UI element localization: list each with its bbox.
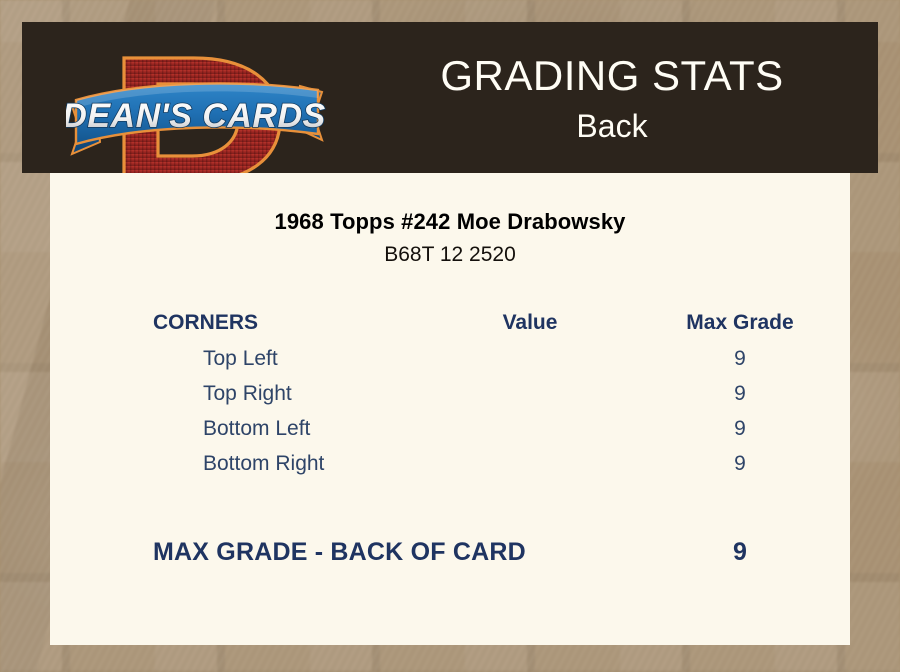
grading-stats-table: CORNERS Value Max Grade Top Left 9 Top R… (50, 305, 850, 481)
card-subtitle: B68T 12 2520 (50, 243, 850, 267)
summary-label: MAX GRADE - BACK OF CARD (50, 538, 630, 567)
content-panel: 1968 Topps #242 Moe Drabowsky B68T 12 25… (50, 173, 850, 645)
row-value (430, 341, 630, 376)
header-titles: GRADING STATS Back (352, 48, 872, 148)
row-label: Top Right (50, 376, 430, 411)
row-max-grade: 9 (630, 411, 850, 446)
row-label: Bottom Left (50, 411, 430, 446)
row-max-grade: 9 (630, 446, 850, 481)
row-value (430, 446, 630, 481)
page-subtitle: Back (352, 104, 872, 148)
row-label: Top Left (50, 341, 430, 376)
row-label: Bottom Right (50, 446, 430, 481)
summary-row: MAX GRADE - BACK OF CARD 9 (50, 538, 850, 567)
deans-cards-logo[interactable]: DEAN'S CARDS (66, 50, 328, 190)
row-max-grade: 9 (630, 341, 850, 376)
header-bar: DEAN'S CARDS GRADING STATS Back (22, 22, 878, 173)
card-title: 1968 Topps #242 Moe Drabowsky (50, 209, 850, 235)
column-header-corners: CORNERS (50, 305, 430, 341)
summary-value: 9 (630, 538, 850, 567)
table-row: Bottom Right 9 (50, 446, 850, 481)
page-title: GRADING STATS (352, 48, 872, 104)
table-row: Top Left 9 (50, 341, 850, 376)
table-row: Bottom Left 9 (50, 411, 850, 446)
column-header-max-grade: Max Grade (630, 305, 850, 341)
grading-stats-page: DEAN'S CARDS GRADING STATS Back 1968 Top… (0, 0, 900, 672)
table-row: Top Right 9 (50, 376, 850, 411)
table-header-row: CORNERS Value Max Grade (50, 305, 850, 341)
row-value (430, 411, 630, 446)
column-header-value: Value (430, 305, 630, 341)
row-max-grade: 9 (630, 376, 850, 411)
row-value (430, 376, 630, 411)
logo-banner-text: DEAN'S CARDS (66, 97, 326, 135)
